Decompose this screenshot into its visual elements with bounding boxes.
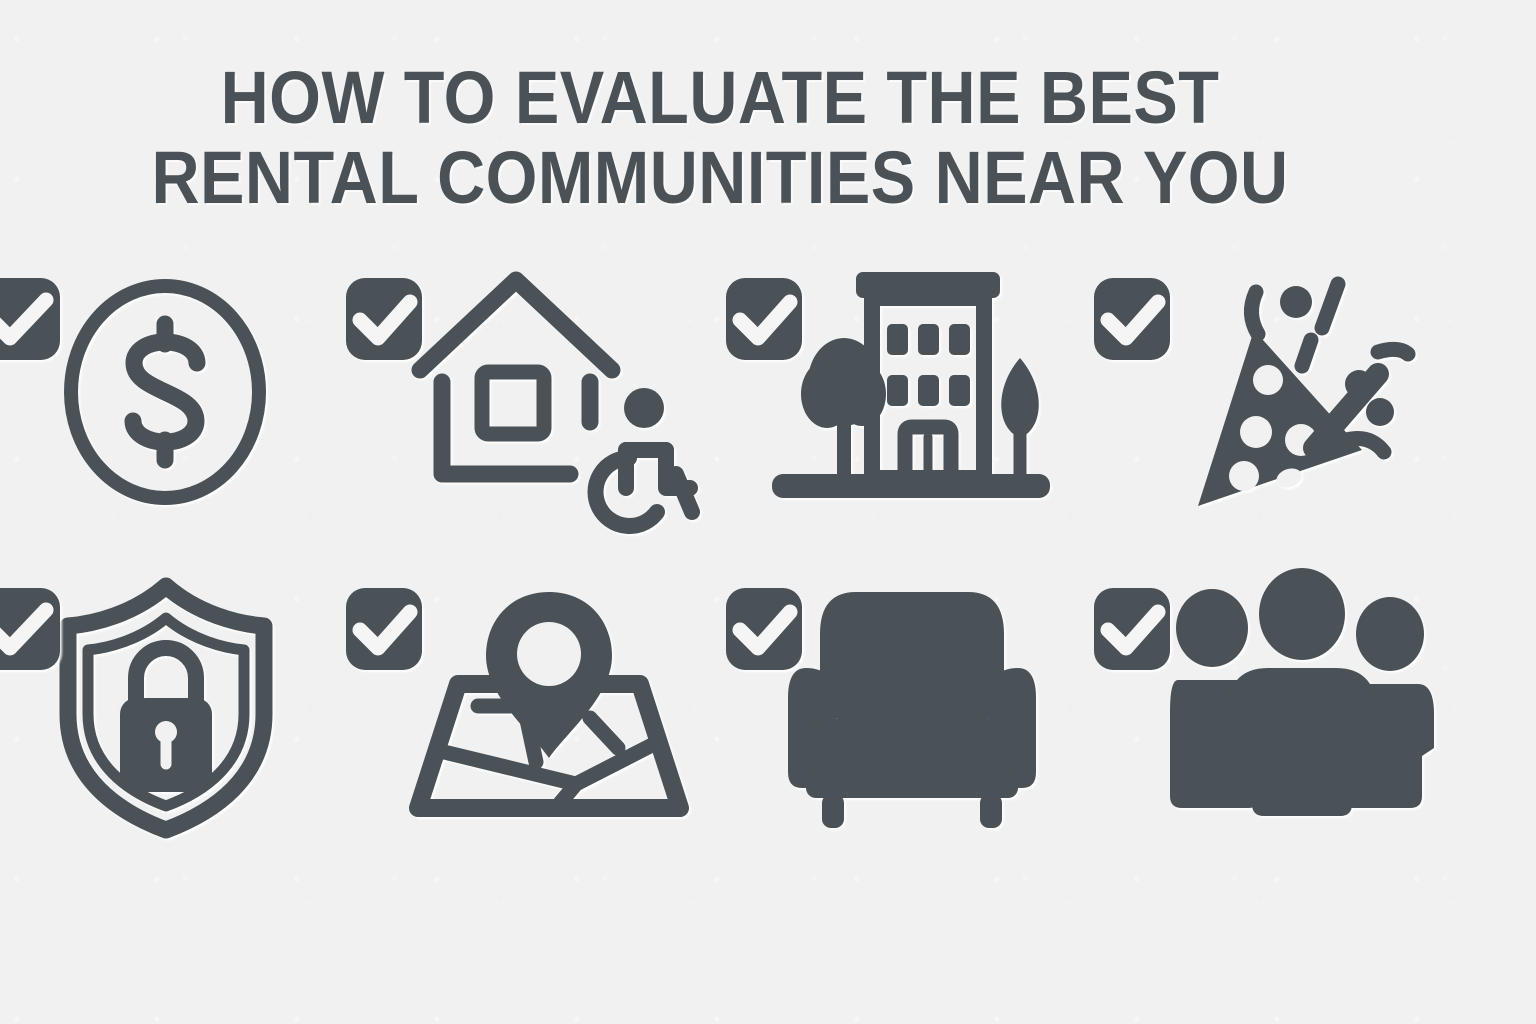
checkbox-checked-icon[interactable]: [1094, 588, 1170, 670]
group-of-people-icon: [1156, 572, 1476, 872]
checklist-row-1: [0, 262, 1536, 572]
list-item[interactable]: [726, 262, 1106, 562]
checkbox-checked-icon[interactable]: [346, 278, 422, 360]
accessible-house-icon: [404, 262, 724, 562]
map-location-pin-icon: [404, 572, 724, 872]
checkbox-checked-icon[interactable]: [726, 278, 802, 360]
list-item[interactable]: [346, 572, 726, 872]
list-item[interactable]: [0, 262, 366, 562]
list-item[interactable]: [1094, 572, 1474, 872]
list-item[interactable]: [0, 572, 366, 872]
party-popper-icon: [1156, 262, 1476, 562]
checkbox-checked-icon[interactable]: [0, 588, 62, 670]
armchair-icon: [772, 572, 1092, 872]
checkbox-checked-icon[interactable]: [1094, 278, 1170, 360]
title-line-2: RENTAL COMMUNITIES NEAR YOU: [72, 138, 1368, 218]
list-item[interactable]: [346, 262, 726, 562]
apartment-building-icon: [772, 262, 1092, 562]
list-item[interactable]: [726, 572, 1106, 872]
checklist-row-2: [0, 572, 1536, 882]
checklist-grid: [0, 262, 1536, 882]
checkbox-checked-icon[interactable]: [726, 588, 802, 670]
dollar-circle-icon: [58, 262, 378, 562]
checkbox-checked-icon[interactable]: [346, 588, 422, 670]
checkbox-checked-icon[interactable]: [0, 278, 62, 360]
list-item[interactable]: [1094, 262, 1474, 562]
page-title: HOW TO EVALUATE THE BEST RENTAL COMMUNIT…: [0, 58, 1440, 218]
infographic-canvas: HOW TO EVALUATE THE BEST RENTAL COMMUNIT…: [0, 0, 1536, 1024]
shield-lock-icon: [58, 572, 378, 872]
title-line-1: HOW TO EVALUATE THE BEST: [72, 58, 1368, 138]
